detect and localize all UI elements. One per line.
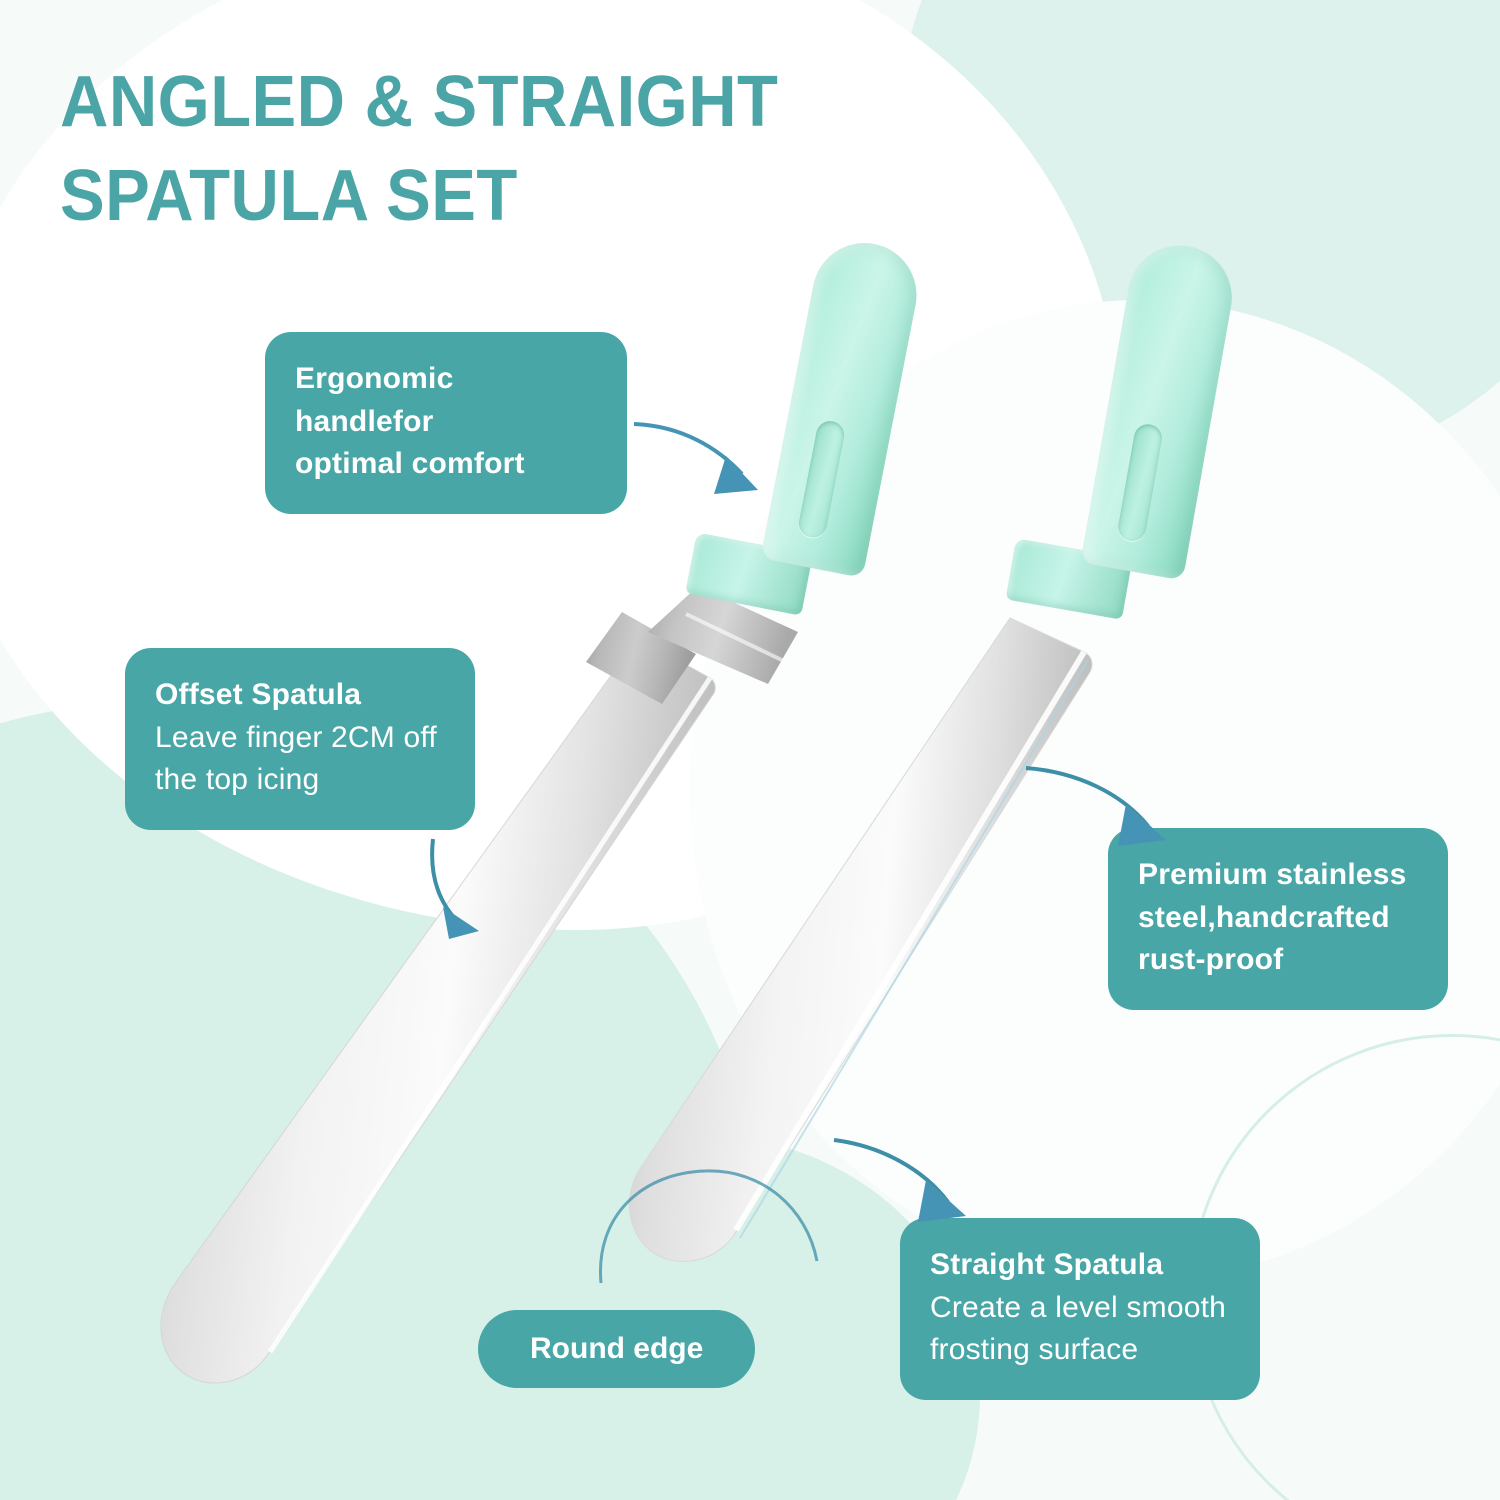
callout-offset-spatula[interactable]: Offset Spatula Leave finger 2CM off the …	[125, 648, 475, 830]
callout-straight-line2: frosting surface	[930, 1329, 1230, 1372]
callout-ergonomic-handle[interactable]: Ergonomic handlefor optimal comfort	[265, 332, 627, 514]
arrow-to-straight-blade-icon	[828, 1128, 988, 1238]
page-title: ANGLED & STRAIGHT SPATULA SET	[60, 56, 897, 243]
callout-premium-line2: steel,handcrafted	[1138, 897, 1418, 940]
callout-straight-heading: Straight Spatula	[930, 1244, 1230, 1287]
callout-ergonomic-line2: optimal comfort	[295, 443, 597, 486]
arrow-to-steel-blade-icon	[1020, 752, 1190, 862]
callout-premium-line3: rust-proof	[1138, 939, 1418, 982]
callout-straight-line1: Create a level smooth	[930, 1287, 1230, 1330]
callout-offset-heading: Offset Spatula	[155, 674, 445, 717]
callout-offset-line1: Leave finger 2CM off	[155, 717, 445, 760]
pill-round-edge[interactable]: Round edge	[478, 1310, 755, 1388]
arrow-to-handle-icon	[630, 418, 790, 508]
pill-round-edge-label: Round edge	[530, 1332, 703, 1365]
callout-ergonomic-line1: Ergonomic handlefor	[295, 358, 597, 443]
arrow-to-offset-blade-icon	[425, 835, 535, 945]
product-infographic: ANGLED & STRAIGHT SPATULA SET	[0, 0, 1500, 1500]
callout-straight-spatula[interactable]: Straight Spatula Create a level smooth f…	[900, 1218, 1260, 1400]
callout-offset-line2: the top icing	[155, 759, 445, 802]
